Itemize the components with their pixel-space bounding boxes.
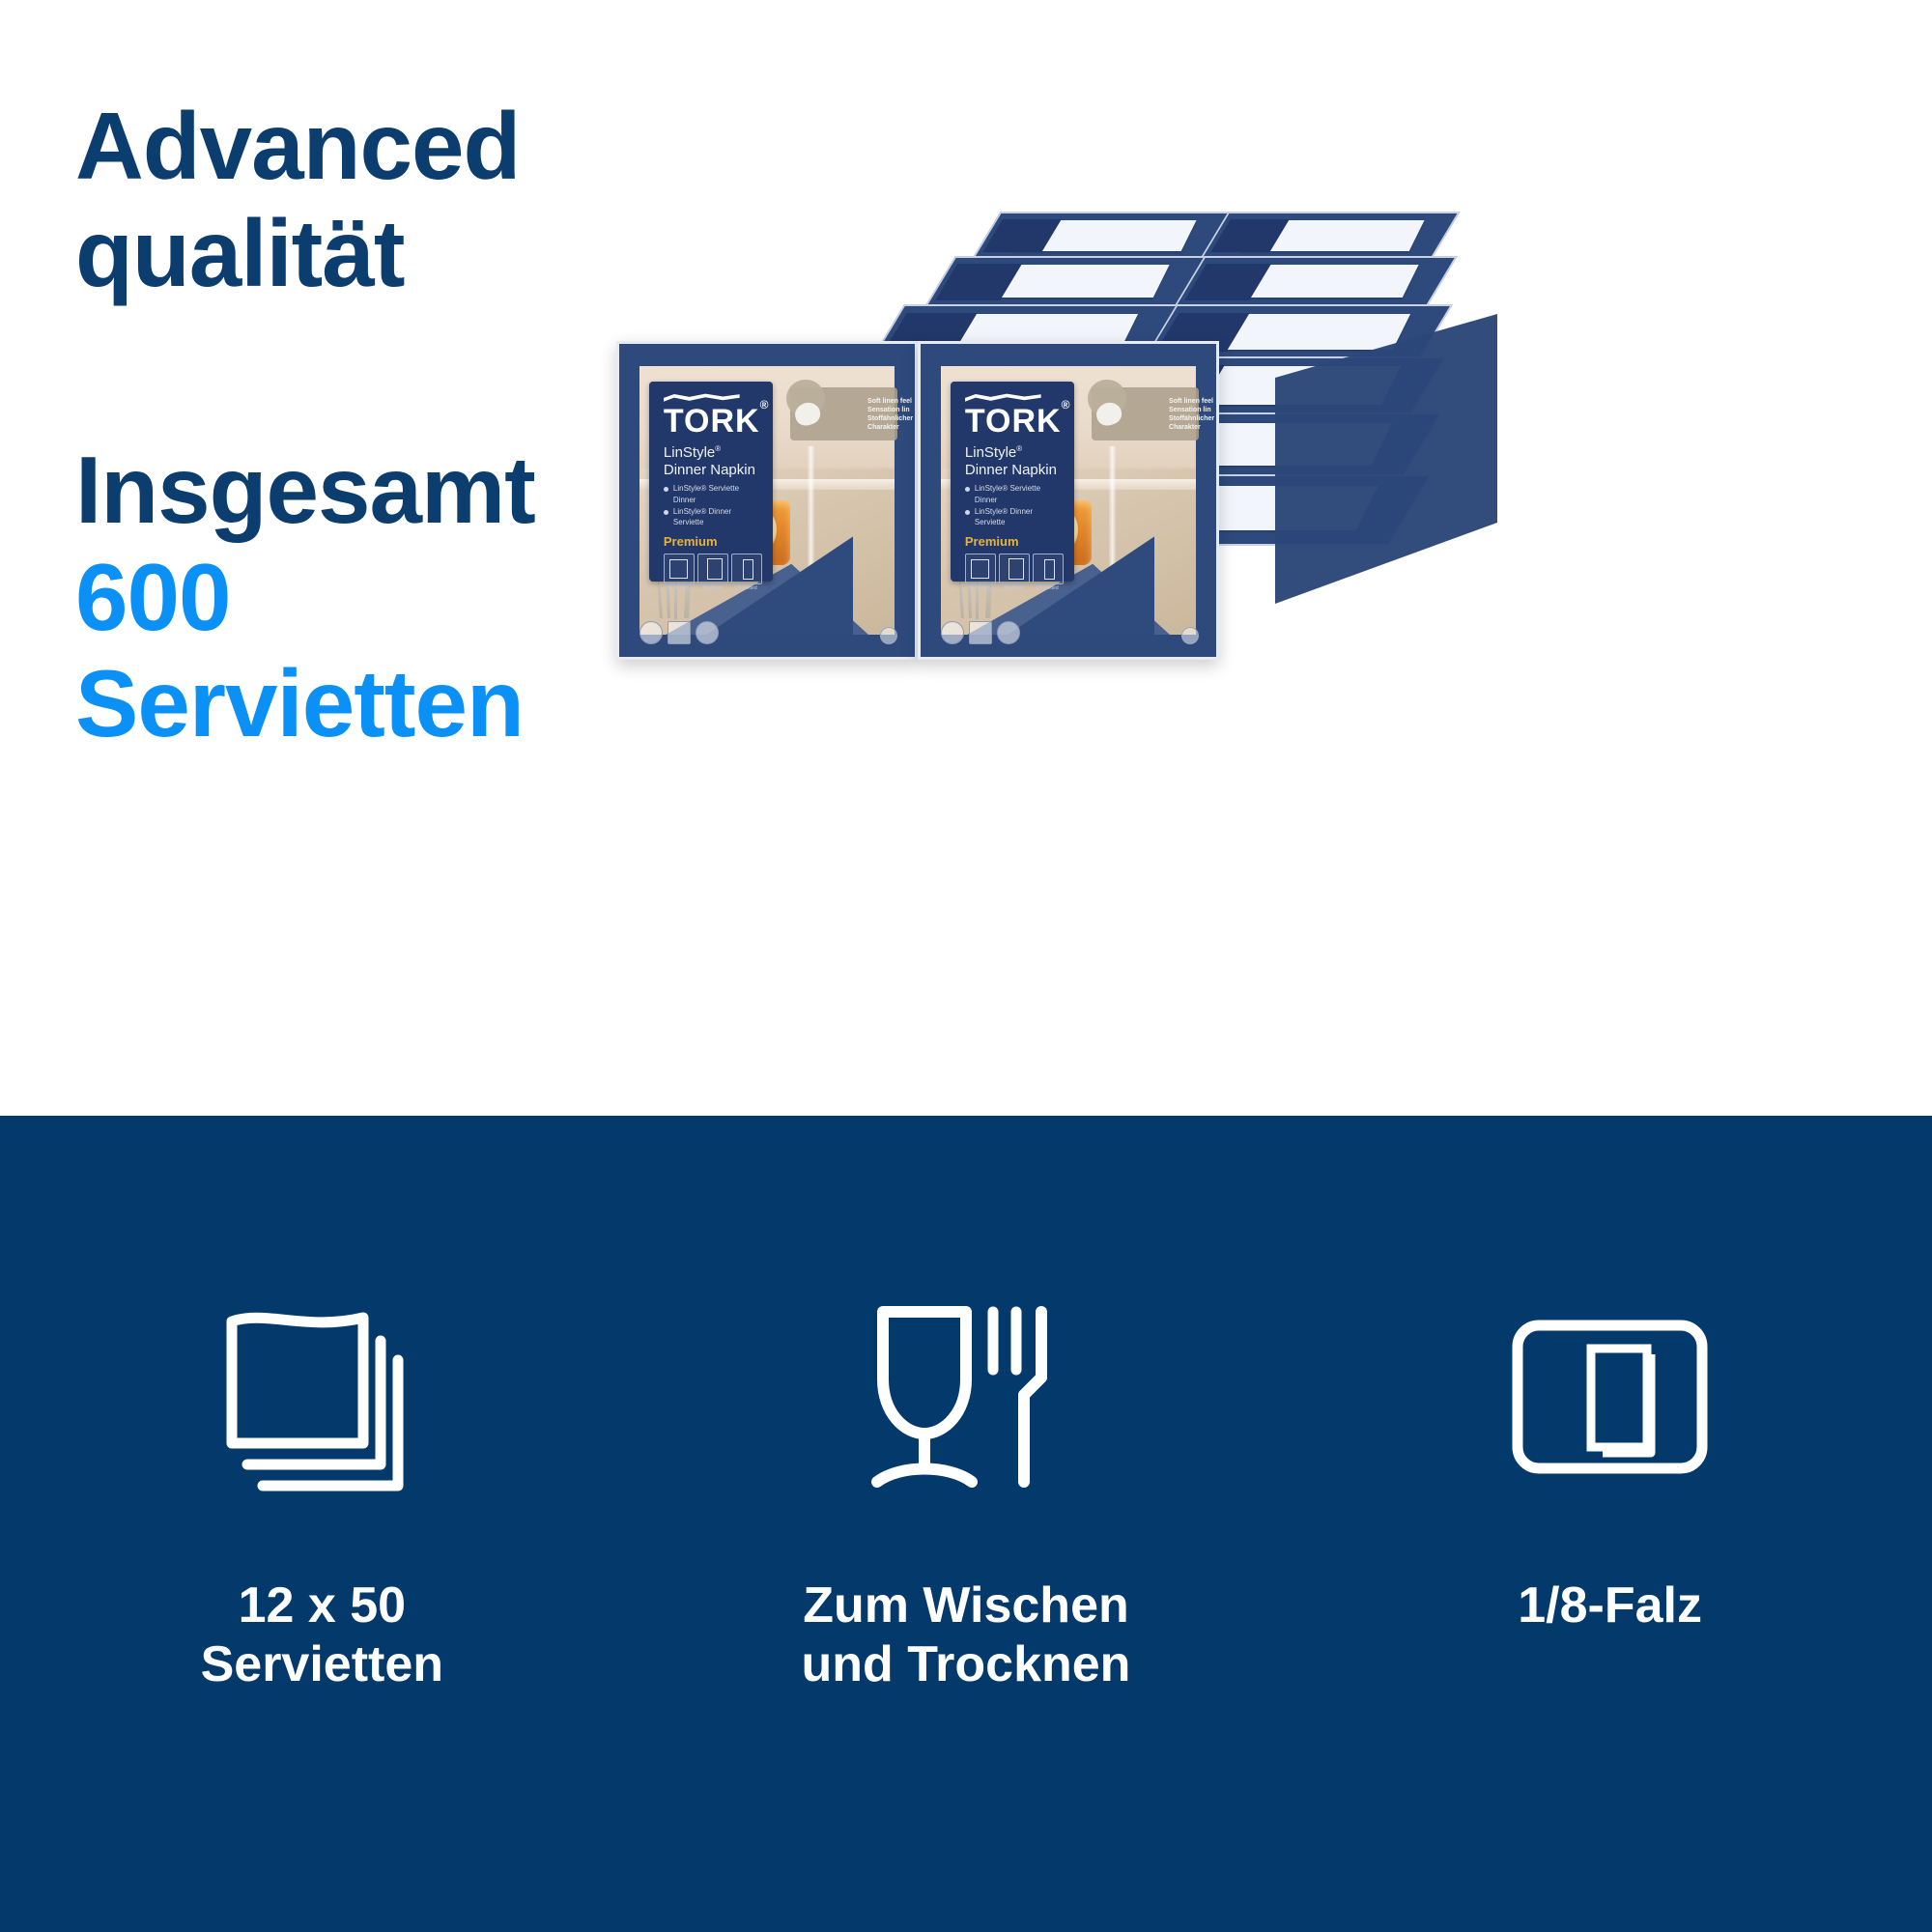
pack-spec-size: 39x39cm bbox=[999, 554, 1028, 591]
soft-linen-feel-badge: Soft linen feel Sensation lin Stoffähnli… bbox=[1092, 387, 1198, 440]
tork-wave-icon bbox=[965, 393, 1041, 402]
pack-spec-fold: 1/8 Folded bbox=[1033, 554, 1062, 591]
eco-label-icon bbox=[997, 621, 1020, 644]
pack-product-type: Dinner Napkin bbox=[664, 462, 761, 479]
pack-spec-caption: 39x39cm bbox=[697, 585, 726, 591]
pack-spec-sheets: 50 Sheets bbox=[965, 554, 994, 591]
product-banner: Advanced qualität Insgesamt 600 Serviett… bbox=[0, 0, 1932, 1932]
pack-corner-mark bbox=[880, 627, 897, 644]
eco-label-icon bbox=[696, 621, 719, 644]
soft-linen-feel-badge: Soft linen feel Sensation lin Stoffähnli… bbox=[790, 387, 896, 440]
feature-row: 12 x 50 Servietten Zum Wischen und Troc bbox=[0, 1275, 1932, 1694]
pack-top-face bbox=[1172, 256, 1458, 310]
certification-marks bbox=[639, 621, 719, 644]
fold-icon bbox=[1033, 554, 1064, 584]
linen-badge-text: Soft linen feel Sensation lin Stoffähnli… bbox=[1169, 397, 1214, 432]
pack-spec-row: 50 Sheets 39x39cm 1/8 Folded bbox=[664, 554, 761, 591]
pack-bullet: LinStyle® Dinner Serviette bbox=[664, 506, 761, 528]
pack-tier-badge: Premium bbox=[965, 534, 1063, 549]
recycling-icon bbox=[941, 621, 964, 644]
size-icon bbox=[697, 554, 728, 584]
feature-quantity: 12 x 50 Servietten bbox=[0, 1275, 644, 1694]
pack-spec-caption: 1/8 Folded bbox=[1033, 585, 1062, 591]
feature-fold: 1/8-Falz bbox=[1288, 1275, 1932, 1694]
feature-band: 12 x 50 Servietten Zum Wischen und Troc bbox=[0, 1116, 1932, 1932]
pack-spec-sheets: 50 Sheets bbox=[664, 554, 693, 591]
feature-label: 12 x 50 Servietten bbox=[201, 1577, 443, 1694]
product-stack-image: TORK® LinStyle® Dinner Napkin LinStyle® … bbox=[599, 198, 1488, 700]
wine-glass-fork-icon bbox=[862, 1275, 1069, 1517]
certification-marks bbox=[941, 621, 1020, 644]
pack-spec-caption: 50 Sheets bbox=[965, 585, 994, 591]
hand-icon bbox=[1094, 399, 1124, 428]
pack-tier-badge: Premium bbox=[664, 534, 761, 549]
pack-corner-mark bbox=[1181, 627, 1199, 644]
front-pack-left: TORK® LinStyle® Dinner Napkin LinStyle® … bbox=[616, 341, 918, 660]
tork-brand-name: TORK® bbox=[965, 405, 1063, 438]
stacked-napkins-icon bbox=[218, 1275, 426, 1517]
pack-top-face bbox=[1198, 212, 1460, 262]
fsc-icon bbox=[668, 621, 691, 644]
pack-spec-caption: 1/8 Folded bbox=[731, 585, 760, 591]
pack-bullets: LinStyle® Serviette Dinner LinStyle® Din… bbox=[965, 483, 1063, 527]
folded-napkin-icon bbox=[1506, 1275, 1714, 1517]
size-icon bbox=[999, 554, 1030, 584]
pack-product-line: LinStyle® bbox=[664, 444, 761, 462]
pack-spec-caption: 39x39cm bbox=[999, 585, 1028, 591]
pack-top-face bbox=[923, 256, 1208, 310]
pack-bullet: LinStyle® Dinner Serviette bbox=[965, 506, 1063, 528]
recycling-icon bbox=[639, 621, 663, 644]
glass-stem bbox=[808, 446, 814, 567]
pack-bullet: LinStyle® Serviette Dinner bbox=[965, 483, 1063, 505]
pack-spec-caption: 50 Sheets bbox=[664, 585, 693, 591]
linen-badge-text: Soft linen feel Sensation lin Stoffähnli… bbox=[867, 397, 913, 432]
pack-spec-row: 50 Sheets 39x39cm 1/8 Folded bbox=[965, 554, 1063, 591]
sheets-icon bbox=[965, 554, 996, 584]
pack-bullets: LinStyle® Serviette Dinner LinStyle® Din… bbox=[664, 483, 761, 527]
pack-top-face bbox=[970, 212, 1232, 262]
pack-label: TORK® LinStyle® Dinner Napkin LinStyle® … bbox=[649, 382, 774, 582]
fsc-icon bbox=[969, 621, 992, 644]
pack-spec-size: 39x39cm bbox=[697, 554, 726, 591]
tork-brand-name: TORK® bbox=[664, 405, 761, 438]
top-section: Advanced qualität Insgesamt 600 Serviett… bbox=[0, 0, 1932, 1116]
hand-icon bbox=[792, 399, 823, 428]
pack-product-line: LinStyle® bbox=[965, 444, 1063, 462]
feature-food-safe: Zum Wischen und Trocknen bbox=[644, 1275, 1289, 1694]
feature-label: 1/8-Falz bbox=[1518, 1577, 1702, 1635]
pack-spec-fold: 1/8 Folded bbox=[731, 554, 760, 591]
pack-product-type: Dinner Napkin bbox=[965, 462, 1063, 479]
tork-wave-icon bbox=[664, 393, 740, 402]
fold-icon bbox=[731, 554, 762, 584]
feature-label: Zum Wischen und Trocknen bbox=[802, 1577, 1131, 1694]
sheets-icon bbox=[664, 554, 695, 584]
pack-bullet: LinStyle® Serviette Dinner bbox=[664, 483, 761, 505]
pack-label: TORK® LinStyle® Dinner Napkin LinStyle® … bbox=[951, 382, 1075, 582]
front-pack-right: TORK® LinStyle® Dinner Napkin LinStyle® … bbox=[918, 341, 1219, 660]
glass-stem bbox=[1109, 446, 1116, 567]
quality-headline-line1: Advanced bbox=[75, 93, 848, 200]
